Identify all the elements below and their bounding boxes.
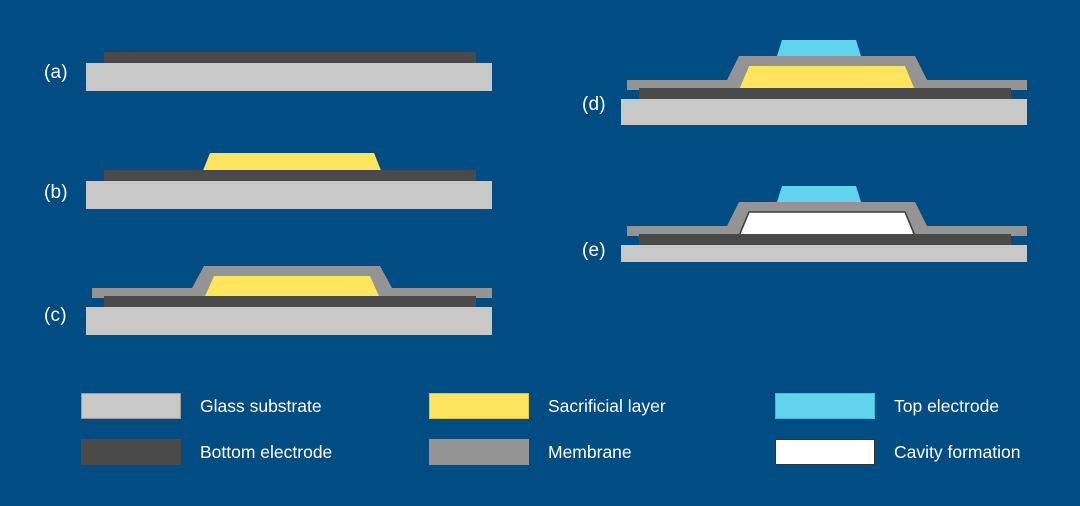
legend-label-bottom-electrode: Bottom electrode <box>200 442 332 463</box>
panel-d-svg <box>615 36 1035 126</box>
legend-swatch-glass-substrate <box>81 393 181 419</box>
layer-cavity-formation <box>739 212 915 236</box>
panel-label-a: (a) <box>44 62 68 84</box>
layer-bottom-electrode <box>639 234 1011 246</box>
legend-swatch-sacrificial-layer <box>429 393 529 419</box>
layer-sacrificial <box>739 66 915 90</box>
layer-bottom-electrode <box>104 52 476 64</box>
panel-label-d: (d) <box>582 94 606 116</box>
layer-glass-substrate <box>86 181 492 209</box>
layer-glass-substrate <box>621 99 1027 125</box>
panel-a-svg <box>80 44 500 96</box>
panel-b-svg <box>80 140 500 212</box>
panel-c-svg <box>80 258 500 338</box>
legend-label-top-electrode: Top electrode <box>894 396 999 417</box>
panel-label-b: (b) <box>44 182 68 204</box>
layer-sacrificial <box>204 276 380 298</box>
layer-glass-substrate <box>86 307 492 335</box>
legend-item-glass-substrate: Glass substrate <box>81 393 322 419</box>
legend-label-membrane: Membrane <box>548 442 632 463</box>
panel-label-e: (e) <box>582 240 606 262</box>
legend-swatch-membrane <box>429 439 529 465</box>
layer-bottom-electrode <box>639 88 1011 100</box>
panel-e-svg <box>615 182 1035 262</box>
panel-b-diagram <box>80 140 500 212</box>
panel-label-c: (c) <box>44 305 67 327</box>
legend-item-cavity-formation: Cavity formation <box>775 439 1020 465</box>
legend-swatch-bottom-electrode <box>81 439 181 465</box>
legend-label-cavity-formation: Cavity formation <box>894 442 1020 463</box>
legend-label-sacrificial-layer: Sacrificial layer <box>548 396 666 417</box>
layer-glass-substrate <box>86 63 492 91</box>
panel-c-diagram <box>80 258 500 338</box>
legend-item-sacrificial-layer: Sacrificial layer <box>429 393 666 419</box>
legend-item-bottom-electrode: Bottom electrode <box>81 439 332 465</box>
legend-item-membrane: Membrane <box>429 439 632 465</box>
legend-swatch-top-electrode <box>775 393 875 419</box>
legend-label-glass-substrate: Glass substrate <box>200 396 322 417</box>
legend-swatch-cavity-formation <box>775 439 875 465</box>
figure-canvas: (a) (b) (c) (d) <box>0 0 1080 506</box>
layer-bottom-electrode <box>104 296 476 308</box>
legend-item-top-electrode: Top electrode <box>775 393 999 419</box>
layer-bottom-electrode <box>104 170 476 182</box>
layer-glass-substrate <box>621 245 1027 262</box>
panel-d-diagram <box>615 36 1035 126</box>
panel-a-diagram <box>80 44 500 96</box>
panel-e-diagram <box>615 182 1035 262</box>
